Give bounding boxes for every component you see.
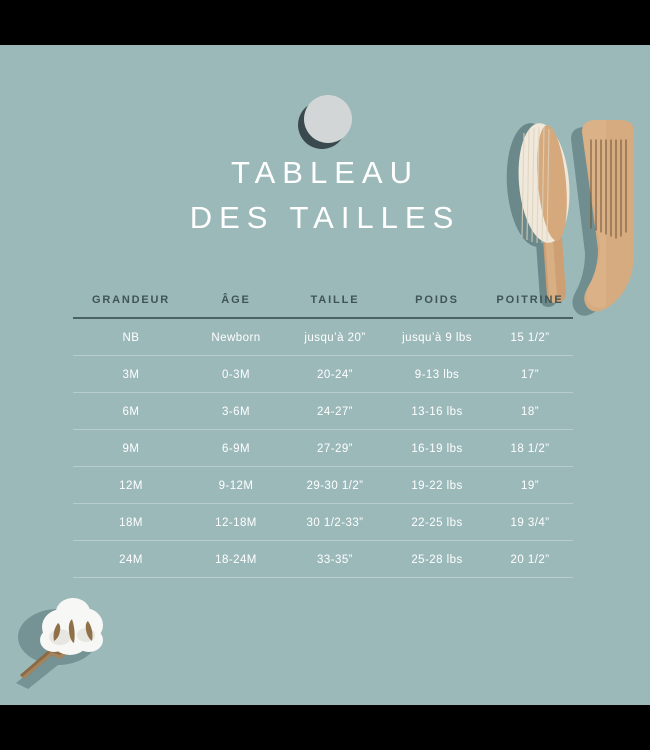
column-header-taille: TAILLE [283, 294, 387, 317]
column-header-poitrine: POITRINE [487, 294, 573, 317]
cell-age: 3-6M [189, 393, 283, 429]
cell-poitrine: 18 1/2” [487, 430, 573, 466]
cell-taille: 20-24” [283, 356, 387, 392]
column-header-poids: POIDS [387, 294, 487, 317]
table-row-divider [73, 355, 573, 356]
cell-poids: 19-22 lbs [387, 467, 487, 503]
table-row: 18M 12-18M 30 1/2-33” 22-25 lbs 19 3/4” [73, 504, 573, 540]
cell-grandeur: 24M [73, 541, 189, 577]
cell-poitrine: 15 1/2” [487, 319, 573, 355]
table-row: 9M 6-9M 27-29” 16-19 lbs 18 1/2” [73, 430, 573, 466]
cell-taille: 24-27” [283, 393, 387, 429]
cell-taille: 29-30 1/2” [283, 467, 387, 503]
table-row: NB Newborn jusqu’à 20” jusqu’à 9 lbs 15 … [73, 319, 573, 355]
cell-age: 0-3M [189, 356, 283, 392]
cell-age: 9-12M [189, 467, 283, 503]
cell-poitrine: 19 3/4” [487, 504, 573, 540]
cell-poids: 13-16 lbs [387, 393, 487, 429]
cell-poids: jusqu’à 9 lbs [387, 319, 487, 355]
crescent-moon-icon [296, 90, 352, 152]
title-line-1: TABLEAU [231, 155, 419, 190]
table-row: 24M 18-24M 33-35” 25-28 lbs 20 1/2” [73, 541, 573, 577]
cell-grandeur: 6M [73, 393, 189, 429]
table-row: 3M 0-3M 20-24” 9-13 lbs 17” [73, 356, 573, 392]
cotton-boll-icon [0, 585, 148, 705]
table-header-row: GRANDEUR ÂGE TAILLE POIDS POITRINE [73, 294, 573, 317]
cell-age: 18-24M [189, 541, 283, 577]
size-table: GRANDEUR ÂGE TAILLE POIDS POITRINE NB Ne… [73, 294, 573, 578]
table-row: 12M 9-12M 29-30 1/2” 19-22 lbs 19” [73, 467, 573, 503]
cell-poitrine: 19” [487, 467, 573, 503]
letterbox-bar-top [0, 0, 650, 45]
table-row-divider [73, 429, 573, 430]
table-row-divider [73, 503, 573, 504]
cell-taille: 33-35” [283, 541, 387, 577]
table-row-divider [73, 392, 573, 393]
cell-age: 12-18M [189, 504, 283, 540]
table-body: NB Newborn jusqu’à 20” jusqu’à 9 lbs 15 … [73, 319, 573, 578]
cell-poitrine: 20 1/2” [487, 541, 573, 577]
cell-poids: 25-28 lbs [387, 541, 487, 577]
cell-poids: 22-25 lbs [387, 504, 487, 540]
table-row-divider [73, 466, 573, 467]
cell-taille: 27-29” [283, 430, 387, 466]
column-header-age: ÂGE [189, 294, 283, 317]
table-row: 6M 3-6M 24-27” 13-16 lbs 18” [73, 393, 573, 429]
cell-grandeur: 9M [73, 430, 189, 466]
cell-poids: 9-13 lbs [387, 356, 487, 392]
cell-poids: 16-19 lbs [387, 430, 487, 466]
cell-taille: 30 1/2-33” [283, 504, 387, 540]
cell-grandeur: NB [73, 319, 189, 355]
cell-age: 6-9M [189, 430, 283, 466]
cell-grandeur: 3M [73, 356, 189, 392]
chart-canvas: TABLEAU DES TAILLES [0, 45, 650, 705]
size-chart-page: TABLEAU DES TAILLES [0, 0, 650, 750]
cell-poitrine: 18” [487, 393, 573, 429]
cell-taille: jusqu’à 20” [283, 319, 387, 355]
table-row-divider [73, 540, 573, 541]
cell-grandeur: 12M [73, 467, 189, 503]
wooden-comb-icon [566, 118, 650, 323]
cell-grandeur: 18M [73, 504, 189, 540]
column-header-grandeur: GRANDEUR [73, 294, 189, 317]
letterbox-bar-bottom [0, 705, 650, 750]
table-row-divider [73, 577, 573, 578]
cell-age: Newborn [189, 319, 283, 355]
cell-poitrine: 17” [487, 356, 573, 392]
